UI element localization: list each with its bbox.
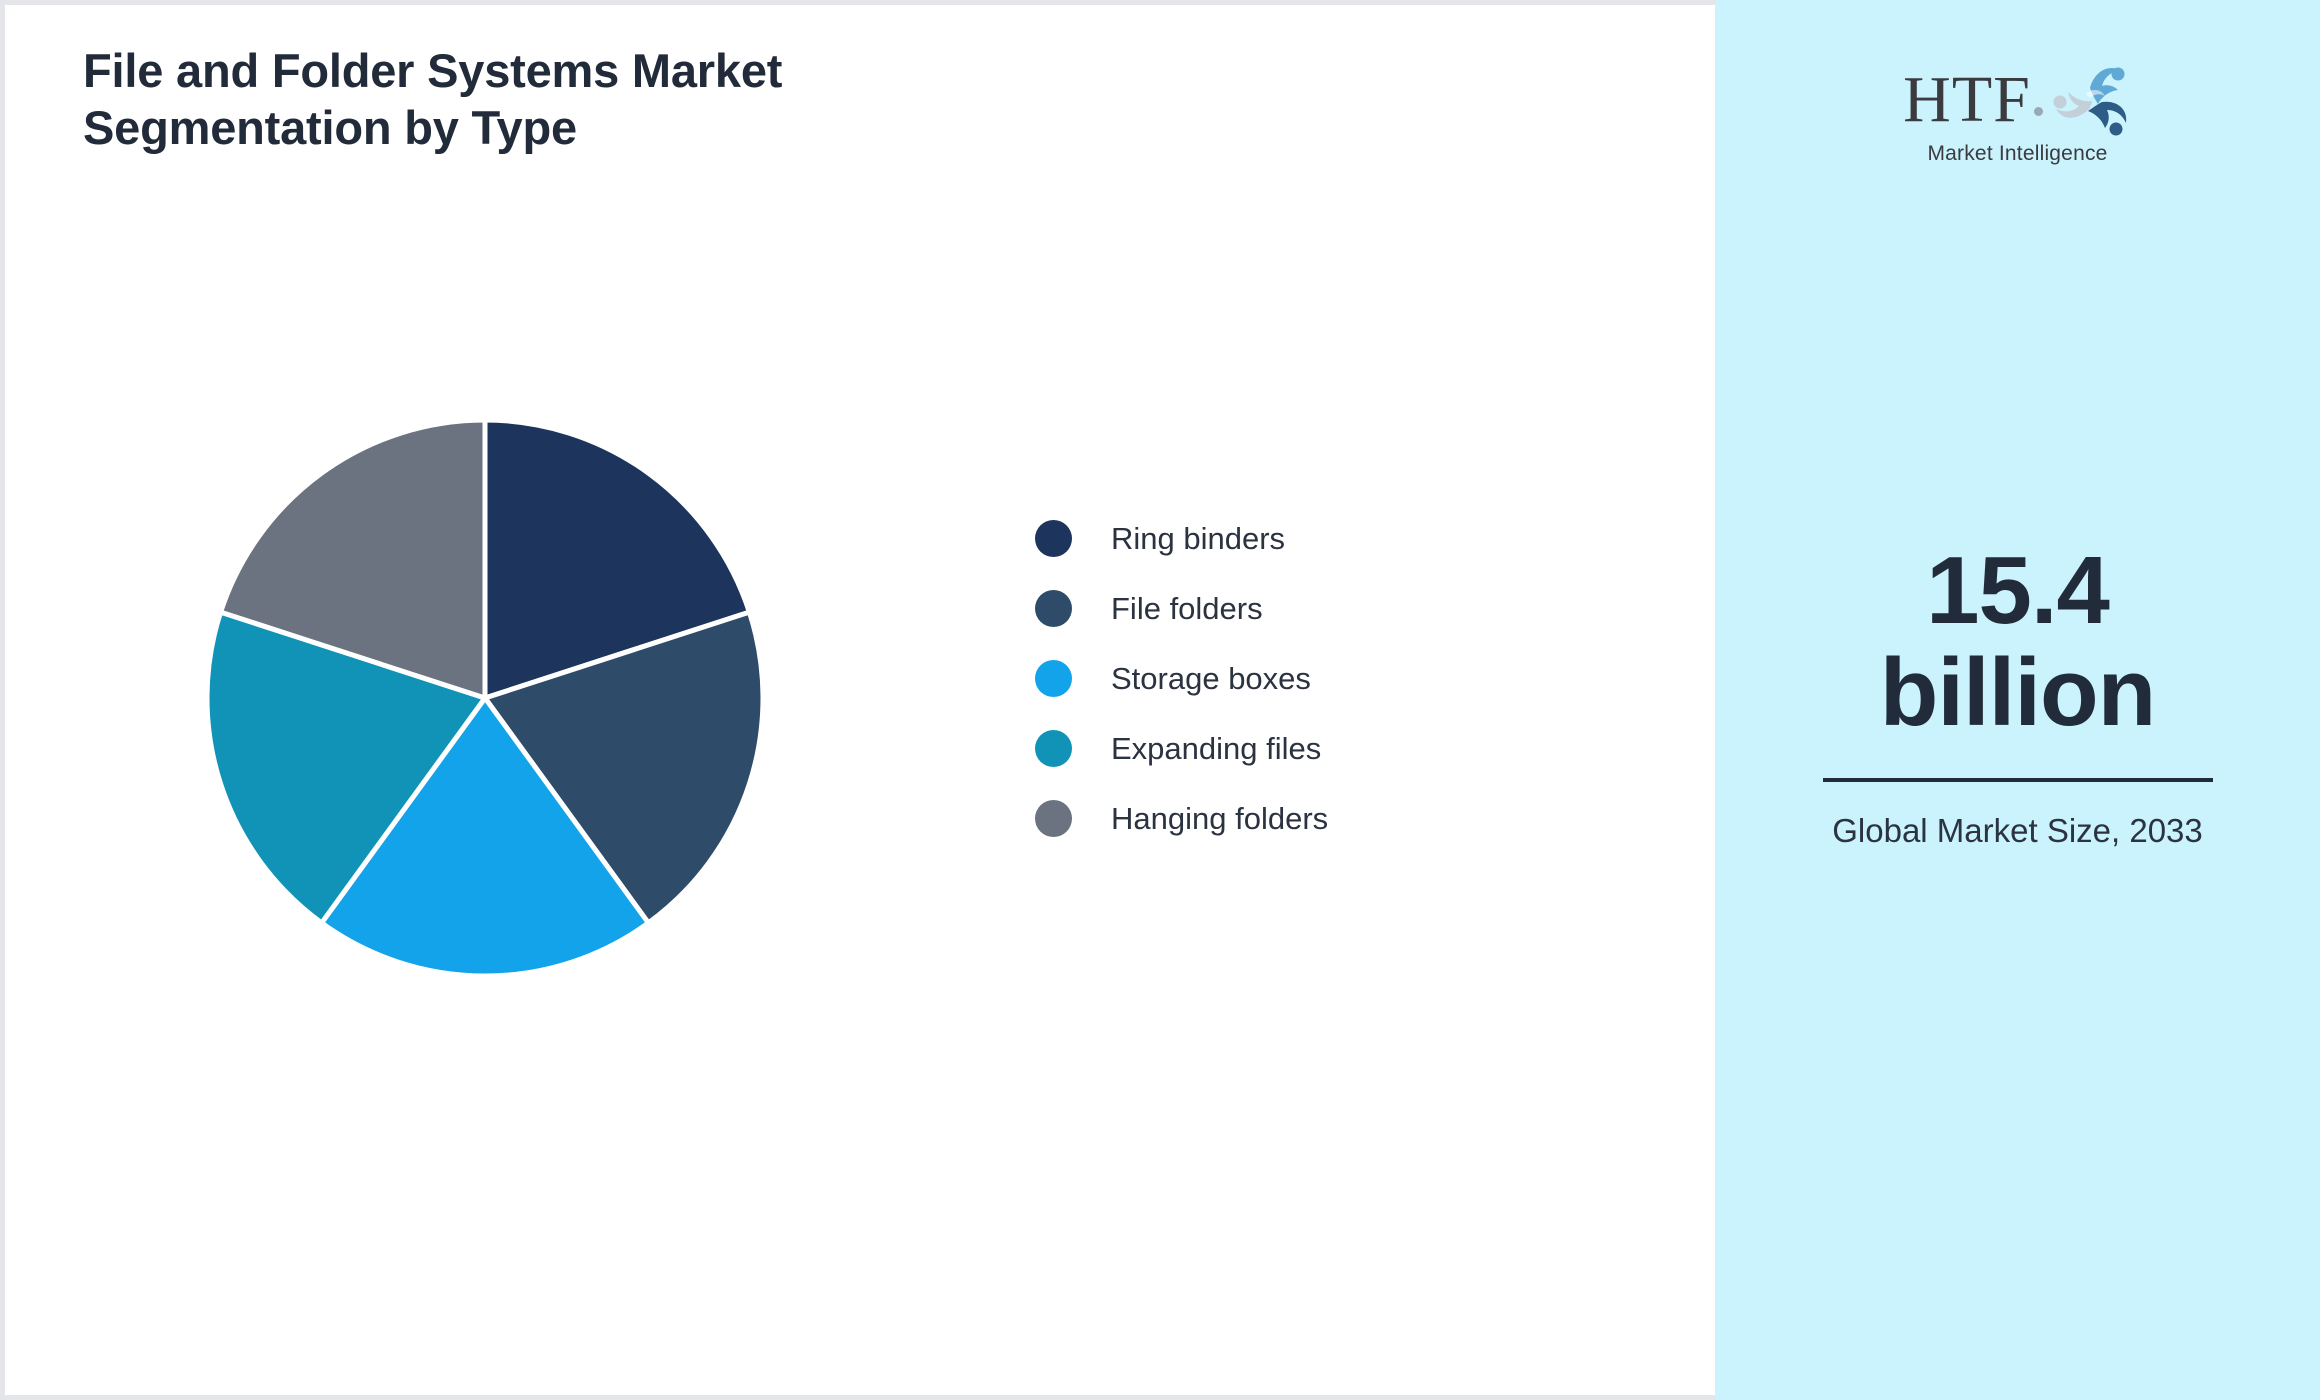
legend-item-ring-binders[interactable]: Ring binders — [1035, 518, 1328, 558]
stat-value: 15.4 — [1788, 540, 2248, 642]
chart-panel: File and Folder Systems Market Segmentat… — [0, 0, 1715, 1400]
legend-swatch-icon — [1035, 800, 1072, 837]
legend-label: Hanging folders — [1111, 803, 1328, 834]
pie-slice-group — [207, 420, 763, 976]
brand-logo: HTF — [1888, 60, 2148, 182]
legend-item-hanging-folders[interactable]: Hanging folders — [1035, 798, 1328, 838]
infographic-canvas: File and Folder Systems Market Segmentat… — [0, 0, 2320, 1400]
chart-legend: Ring binders File folders Storage boxes … — [1035, 518, 1328, 838]
legend-swatch-icon — [1035, 730, 1072, 767]
legend-swatch-icon — [1035, 520, 1072, 557]
pie-chart-svg — [205, 418, 765, 978]
logo-row: HTF — [1903, 60, 2132, 140]
stat-unit: billion — [1788, 642, 2248, 744]
legend-label: File folders — [1111, 593, 1263, 624]
legend-label: Expanding files — [1111, 733, 1321, 764]
legend-swatch-icon — [1035, 590, 1072, 627]
stat-block: 15.4 billion Global Market Size, 2033 — [1788, 540, 2248, 851]
stat-divider — [1823, 778, 2213, 782]
legend-item-expanding-files[interactable]: Expanding files — [1035, 728, 1328, 768]
pie-chart — [205, 418, 765, 978]
htf-three-figures-circle-icon — [2046, 58, 2132, 143]
stat-sidebar: HTF — [1715, 0, 2320, 1400]
page-title: File and Folder Systems Market Segmentat… — [83, 42, 1033, 157]
logo-tagline: Market Intelligence — [1927, 142, 2107, 166]
legend-item-storage-boxes[interactable]: Storage boxes — [1035, 658, 1328, 698]
legend-label: Storage boxes — [1111, 663, 1311, 694]
legend-item-file-folders[interactable]: File folders — [1035, 588, 1328, 628]
legend-label: Ring binders — [1111, 523, 1285, 554]
logo-dot-icon — [2034, 107, 2043, 116]
logo-wordmark: HTF — [1903, 67, 2031, 133]
stat-caption: Global Market Size, 2033 — [1788, 810, 2248, 851]
legend-swatch-icon — [1035, 660, 1072, 697]
